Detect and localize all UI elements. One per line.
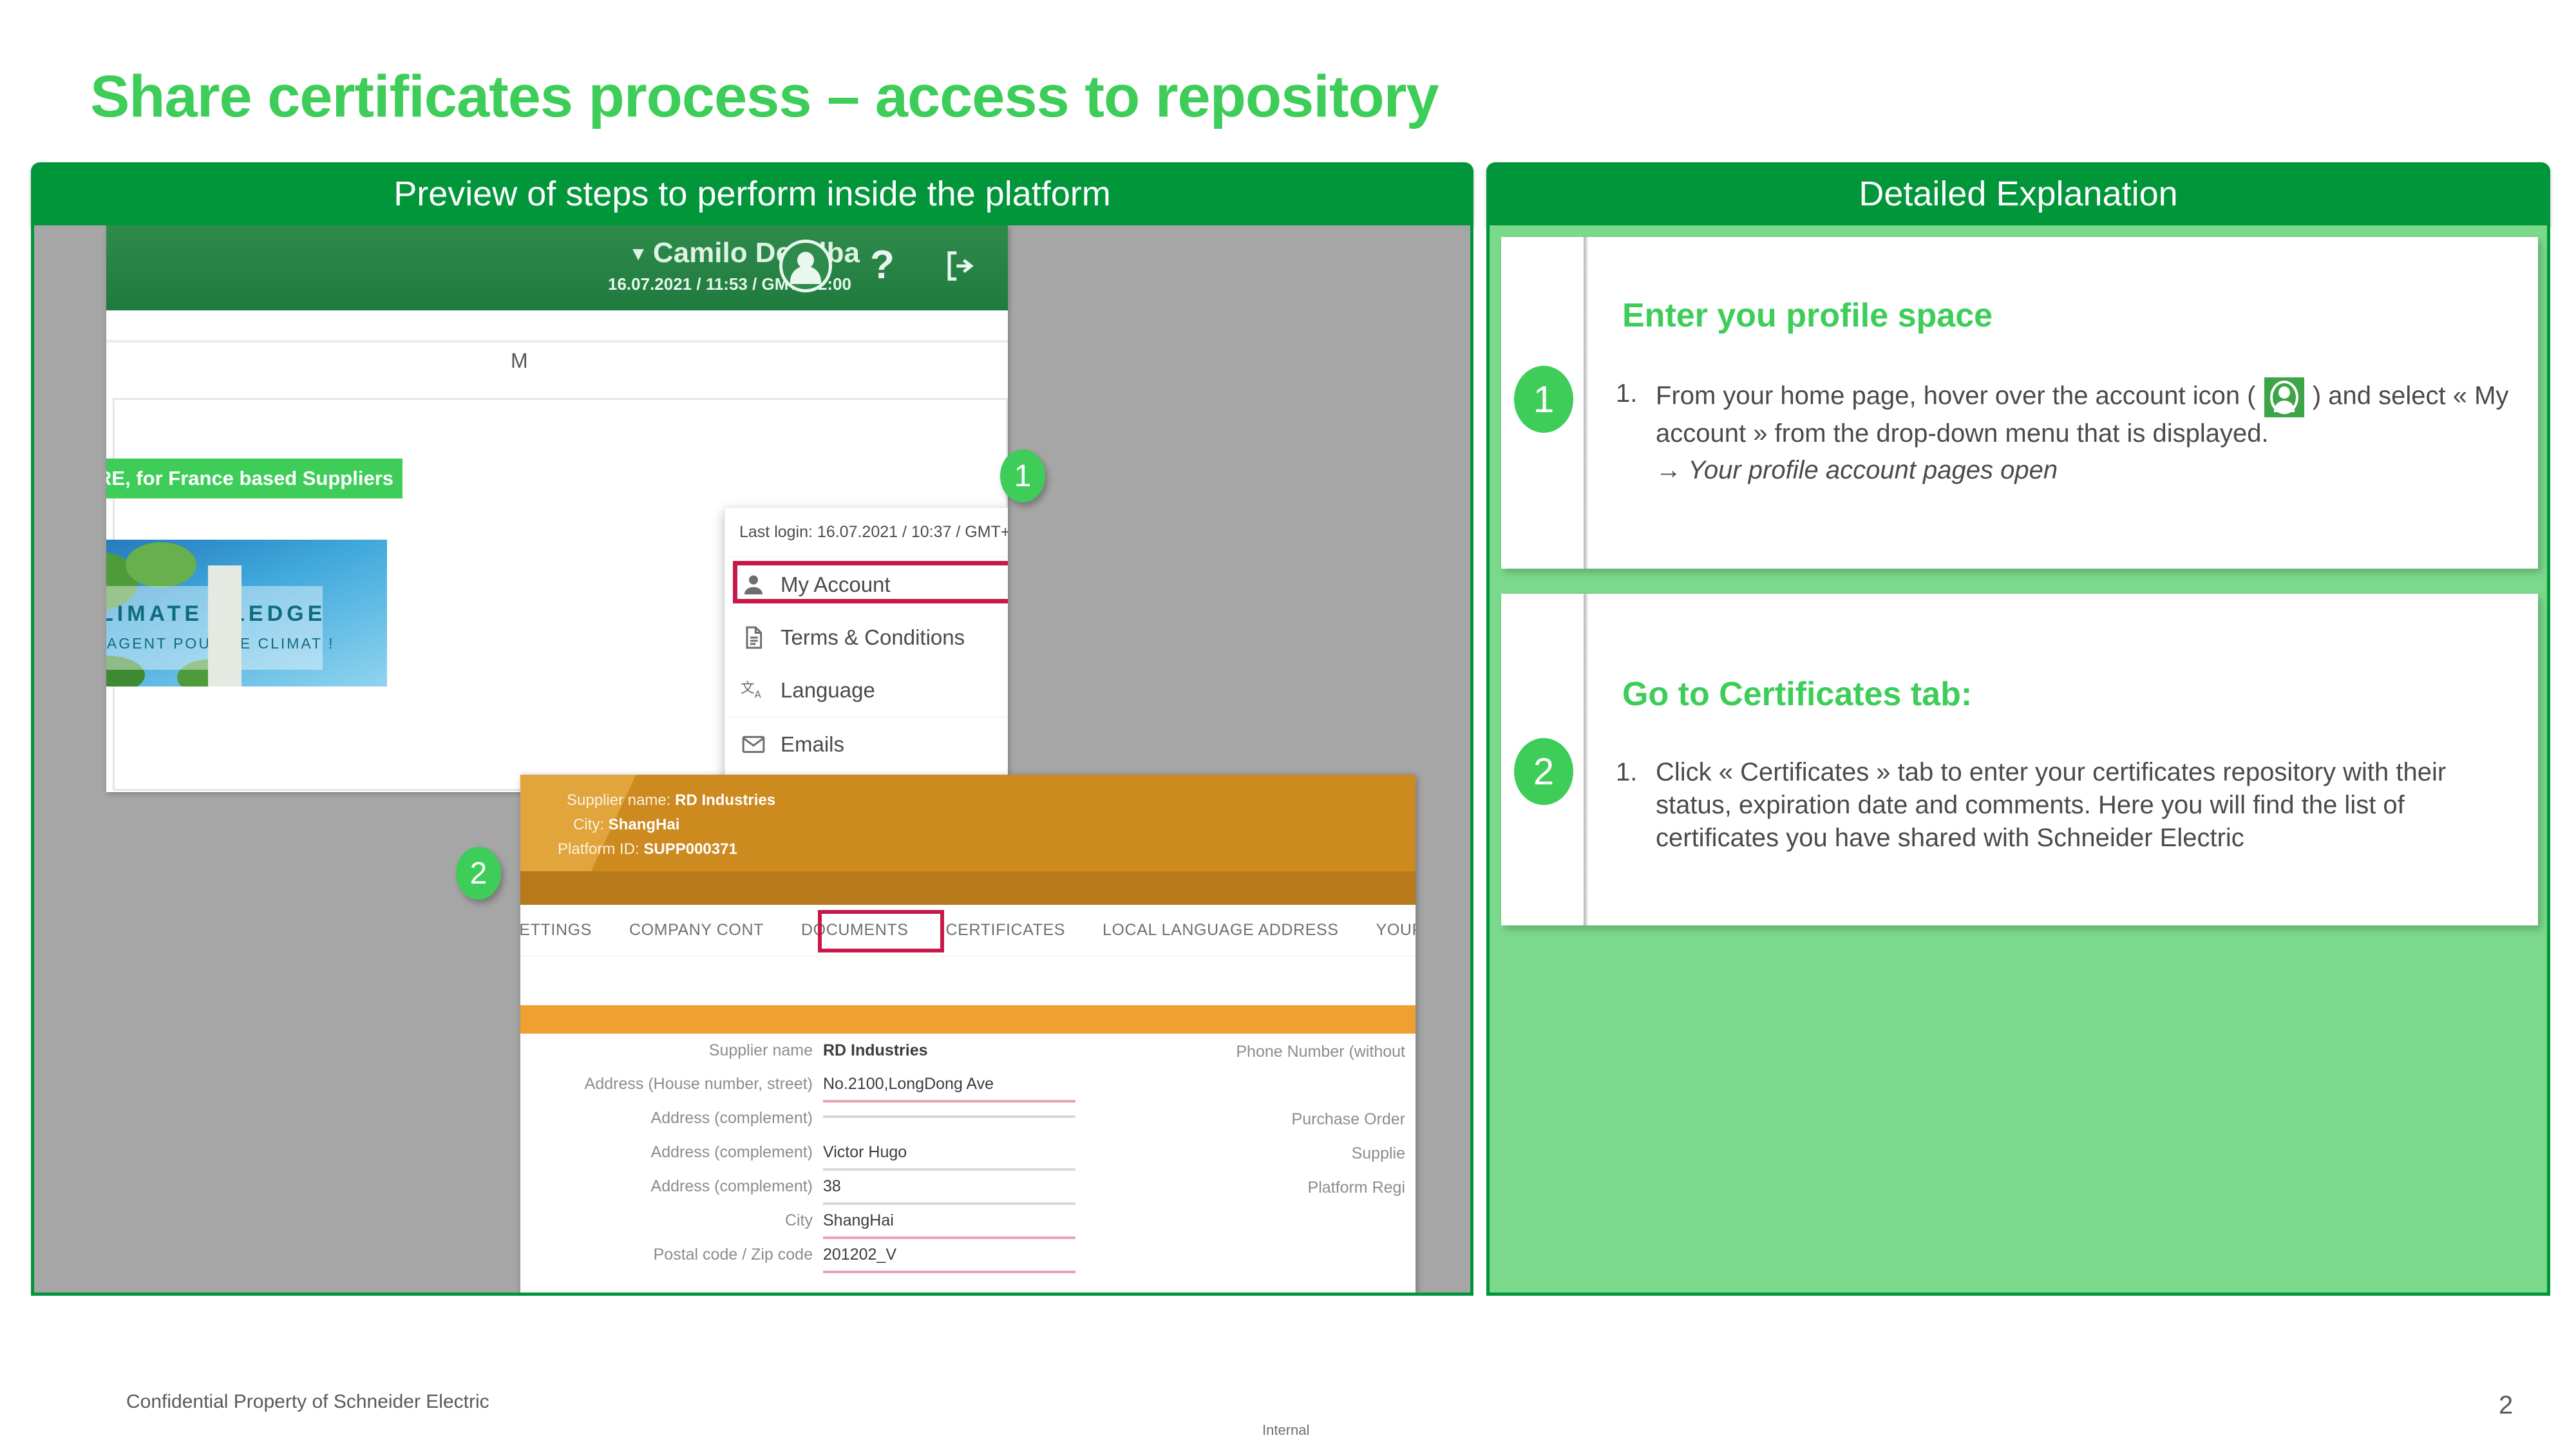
supplier-city-line: City: ShangHai — [573, 816, 679, 834]
card-instruction-text: Click « Certificates » tab to enter your… — [1616, 756, 2511, 855]
page-divider — [106, 340, 1008, 343]
card-body-1: 1. From your home page, hover over the a… — [1616, 377, 2511, 487]
supplier-name-line: Supplier name: RD Industries — [567, 791, 775, 810]
svg-text:A: A — [755, 689, 762, 701]
form-row: Supplier name RD Industries — [520, 1041, 1139, 1074]
page-number: 2 — [2499, 1391, 2513, 1420]
field-label: Address (complement) — [520, 1177, 823, 1196]
card-title-1: Enter you profile space — [1622, 296, 1993, 335]
form-row: City ShangHai — [520, 1211, 1139, 1244]
card-body-2: 1. Click « Certificates » tab to enter y… — [1616, 756, 2511, 855]
envelope-icon — [741, 732, 766, 757]
card-divider — [1584, 594, 1589, 925]
explanation-panel-body: 1 Enter you profile space 1. From your h… — [1486, 225, 2550, 1296]
help-icon[interactable]: ? — [870, 242, 895, 288]
section-orange-band — [520, 1005, 1416, 1034]
explanation-card-1: 1 Enter you profile space 1. From your h… — [1501, 237, 2538, 569]
field-label: Address (House number, street) — [520, 1075, 823, 1094]
card-step-badge-1: 1 — [1514, 366, 1573, 433]
right-field-label: Supplie — [1352, 1144, 1405, 1163]
form-row: Postal code / Zip code 201202_V — [520, 1245, 1139, 1278]
page-title: Share certificates process – access to r… — [90, 63, 1439, 131]
translate-icon: 文A — [741, 677, 766, 703]
account-avatar-icon[interactable] — [779, 240, 832, 292]
slide-root: Share certificates process – access to r… — [0, 0, 2576, 1449]
climate-pledge-image: LIMATE PLEDGE GAGENT POUR LE CLIMAT ! — [106, 540, 387, 687]
screenshot-account-menu: M ICOIRE, for France based Suppliers LIM… — [106, 225, 1008, 792]
france-suppliers-banner: ICOIRE, for France based Suppliers — [106, 459, 402, 498]
field-value[interactable]: Victor Hugo — [823, 1143, 1081, 1176]
form-row: Address (complement) — [520, 1109, 1139, 1128]
menu-item-label: Emails — [781, 732, 844, 757]
preview-panel-body: M ICOIRE, for France based Suppliers LIM… — [31, 225, 1473, 1296]
field-label: Address (complement) — [520, 1109, 823, 1128]
menu-partial-label: M — [511, 349, 528, 373]
preview-panel: Preview of steps to perform inside the p… — [31, 162, 1473, 1296]
tab-local-language-address[interactable]: LOCAL LANGUAGE ADDRESS — [1103, 921, 1339, 940]
list-marker: 1. — [1616, 377, 1637, 410]
step-badge-1: 1 — [1000, 450, 1045, 502]
form-row: Address (House number, street) No.2100,L… — [520, 1075, 1139, 1108]
menu-item-label: Terms & Conditions — [781, 625, 965, 650]
screenshot-supplier-profile: Supplier name: RD Industries City: Shang… — [520, 775, 1416, 1294]
my-account-highlight-box — [733, 561, 1008, 603]
last-login-row: Last login: 16.07.2021 / 10:37 / GMT+02:… — [725, 508, 1008, 557]
form-row: Address (complement) 38 — [520, 1177, 1139, 1210]
explanation-panel-header: Detailed Explanation — [1486, 162, 2550, 225]
footer-confidential: Confidential Property of Schneider Elect… — [126, 1391, 489, 1413]
tab-general-settings[interactable]: L SETTINGS — [520, 921, 592, 940]
explanation-card-2: 2 Go to Certificates tab: 1. Click « Cer… — [1501, 594, 2538, 925]
tab-certificates[interactable]: CERTIFICATES — [946, 921, 1065, 940]
menu-item-label: Language — [781, 678, 875, 703]
form-row: Address (complement) Victor Hugo — [520, 1143, 1139, 1176]
preview-panel-header: Preview of steps to perform inside the p… — [31, 162, 1473, 225]
tree-trunk-shape — [208, 565, 241, 687]
tab-your-contacts[interactable]: YOUR CONTACTS — [1376, 921, 1416, 940]
svg-text:文: 文 — [741, 680, 755, 696]
field-label: Supplier name — [520, 1041, 823, 1060]
tree-shape — [126, 542, 196, 587]
supplier-header-shadow-band — [520, 871, 1416, 905]
document-icon — [741, 625, 766, 650]
supplier-form: Supplier name RD Industries Address (Hou… — [520, 1041, 1416, 1294]
field-value[interactable]: 38 — [823, 1177, 1081, 1210]
right-field-label: Platform Regi — [1308, 1179, 1405, 1197]
field-value[interactable]: No.2100,LongDong Ave — [823, 1075, 1081, 1108]
field-value[interactable] — [823, 1109, 1081, 1123]
menu-item-emails[interactable]: Emails — [725, 721, 1008, 768]
card-divider — [1584, 237, 1589, 569]
supplier-tab-bar[interactable]: L SETTINGS COMPANY CONT DOCUMENTS CERTIF… — [520, 905, 1416, 956]
field-value: RD Industries — [823, 1041, 1081, 1074]
account-avatar-icon — [2264, 377, 2304, 417]
field-label: Address (complement) — [520, 1143, 823, 1162]
field-label: Postal code / Zip code — [520, 1245, 823, 1264]
menu-item-terms-conditions[interactable]: Terms & Conditions — [725, 614, 1008, 661]
list-marker: 1. — [1616, 756, 1637, 789]
menu-divider — [725, 717, 1008, 717]
card-step-badge-2: 2 — [1514, 738, 1573, 805]
card-instruction-text: From your home page, hover over the acco… — [1616, 377, 2511, 487]
menu-item-language[interactable]: 文A Language — [725, 667, 1008, 714]
logout-icon[interactable] — [943, 249, 978, 283]
card-result-line: → Your profile account pages open — [1656, 454, 2511, 487]
right-field-label: Phone Number (without — [1236, 1043, 1405, 1061]
certificates-tab-highlight-box — [818, 910, 944, 952]
field-value[interactable]: ShangHai — [823, 1211, 1081, 1244]
step-badge-2: 2 — [456, 847, 501, 900]
footer-classification: Internal — [1262, 1422, 1309, 1439]
field-label: City — [520, 1211, 823, 1230]
supplier-header-banner: Supplier name: RD Industries City: Shang… — [520, 775, 1416, 871]
tab-company-contacts[interactable]: COMPANY CONT — [629, 921, 764, 940]
chevron-down-icon: ▼ — [629, 243, 648, 265]
supplier-platform-id-line: Platform ID: SUPP000371 — [558, 840, 737, 858]
account-dropdown-menu[interactable]: Last login: 16.07.2021 / 10:37 / GMT+02:… — [724, 507, 1008, 792]
right-field-label: Purchase Order — [1292, 1110, 1405, 1129]
card-title-2: Go to Certificates tab: — [1622, 675, 1972, 714]
field-value[interactable]: 201202_V — [823, 1245, 1081, 1278]
explanation-panel: Detailed Explanation 1 Enter you profile… — [1486, 162, 2550, 1296]
